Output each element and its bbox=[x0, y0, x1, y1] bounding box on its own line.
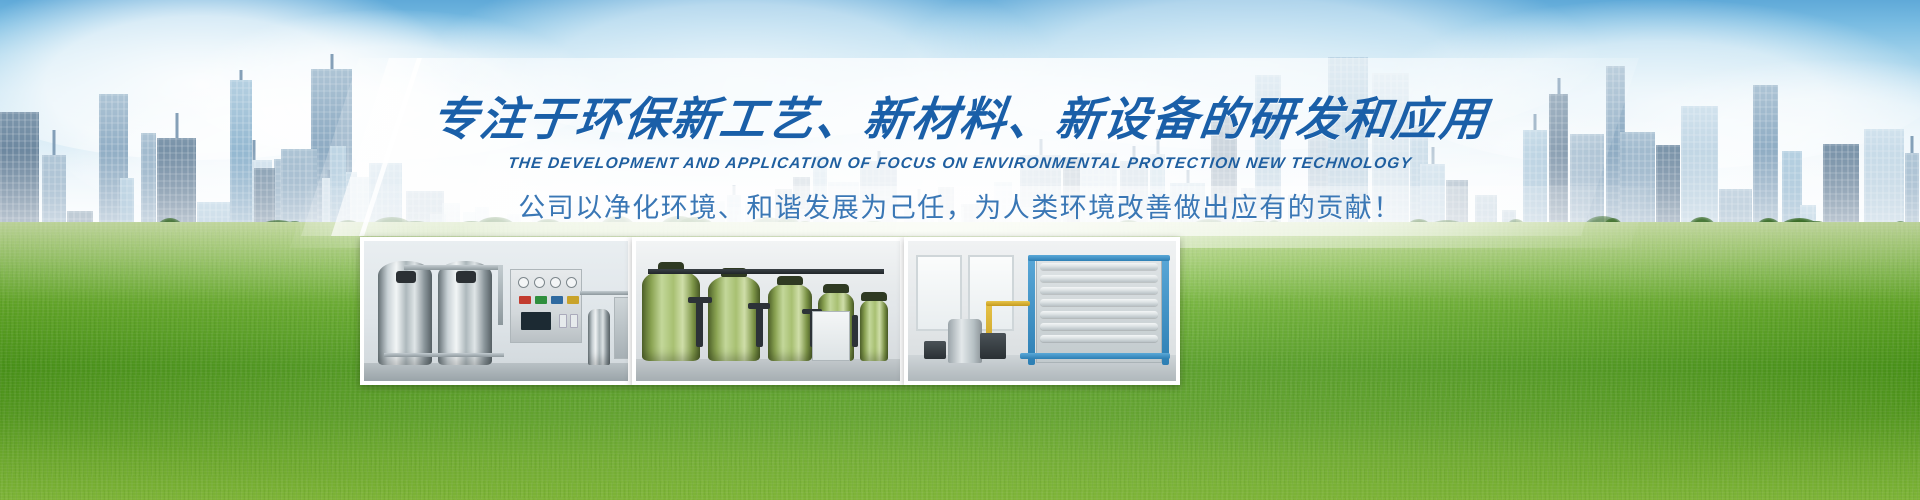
photo-1-scene bbox=[364, 241, 628, 381]
tank-valve-head bbox=[456, 271, 476, 283]
white-vessel bbox=[812, 311, 850, 361]
photo-2-scene bbox=[636, 241, 900, 381]
small-vessel bbox=[588, 309, 610, 365]
frp-tank bbox=[768, 283, 812, 361]
membrane-tube bbox=[1040, 323, 1158, 330]
indicator-light bbox=[535, 296, 547, 304]
valve-handle bbox=[688, 297, 712, 303]
valve-stem bbox=[756, 303, 763, 347]
membrane-tube bbox=[1040, 335, 1158, 342]
photo-thumbnail-green-tanks[interactable] bbox=[632, 237, 904, 385]
valve-stem bbox=[696, 297, 703, 347]
hero-banner: 专注于环保新工艺、新材料、新设备的研发和应用 THE DEVELOPMENT A… bbox=[0, 0, 1920, 500]
outlet-pipe bbox=[580, 291, 628, 295]
membrane-tube bbox=[1040, 311, 1158, 318]
membrane-tube bbox=[1040, 299, 1158, 306]
pump-motor bbox=[980, 333, 1006, 359]
photo-strip bbox=[360, 237, 1180, 385]
blue-pipe bbox=[1020, 353, 1170, 359]
frp-tank bbox=[860, 299, 888, 361]
membrane-tube bbox=[1040, 287, 1158, 294]
switch bbox=[570, 314, 578, 328]
frp-tank bbox=[642, 269, 700, 361]
ro-membrane-rack bbox=[1036, 257, 1162, 363]
gauge-icon bbox=[534, 277, 545, 288]
indicator-light bbox=[567, 296, 579, 304]
control-cabinet bbox=[510, 269, 582, 343]
side-frame bbox=[614, 297, 628, 359]
photo-3-scene bbox=[908, 241, 1176, 381]
tank-valve-head bbox=[396, 271, 416, 283]
membrane-tube bbox=[1040, 275, 1158, 282]
yellow-pipe bbox=[986, 301, 1030, 306]
gauge-icon bbox=[518, 277, 529, 288]
header-pipe bbox=[648, 269, 884, 274]
tank-cap bbox=[777, 276, 803, 285]
plant-floor bbox=[364, 363, 628, 381]
blue-pipe bbox=[1028, 255, 1170, 261]
valve-handle bbox=[748, 303, 770, 309]
indicator-light bbox=[519, 296, 531, 304]
top-pipe bbox=[404, 265, 502, 270]
pump-motor bbox=[924, 341, 946, 359]
banner-copy: 专注于环保新工艺、新材料、新设备的研发和应用 THE DEVELOPMENT A… bbox=[0, 92, 1920, 225]
riser-pipe bbox=[498, 265, 503, 325]
membrane-tube bbox=[1040, 263, 1158, 270]
bottom-pipe bbox=[384, 353, 504, 357]
frp-tank bbox=[708, 275, 760, 361]
display-screen bbox=[521, 312, 551, 330]
switch bbox=[559, 314, 567, 328]
photo-thumbnail-stainless-tanks[interactable] bbox=[360, 237, 632, 385]
blue-pipe bbox=[1028, 255, 1035, 365]
banner-subline: THE DEVELOPMENT AND APPLICATION OF FOCUS… bbox=[0, 155, 1920, 173]
plant-floor bbox=[636, 359, 900, 381]
banner-headline: 专注于环保新工艺、新材料、新设备的研发和应用 bbox=[0, 92, 1920, 146]
indicator-light bbox=[551, 296, 563, 304]
banner-tagline: 公司以净化环境、和谐发展为己任，为人类环境改善做出应有的贡献！ bbox=[0, 186, 1920, 225]
gauge-icon bbox=[566, 277, 577, 288]
photo-thumbnail-ro-skid[interactable] bbox=[904, 237, 1180, 385]
blue-pipe bbox=[1162, 255, 1169, 365]
tank-cap bbox=[823, 284, 849, 293]
tank-cap bbox=[861, 292, 887, 301]
gauge-icon bbox=[550, 277, 561, 288]
valve-stem bbox=[852, 315, 858, 347]
feed-vessel bbox=[948, 319, 982, 363]
